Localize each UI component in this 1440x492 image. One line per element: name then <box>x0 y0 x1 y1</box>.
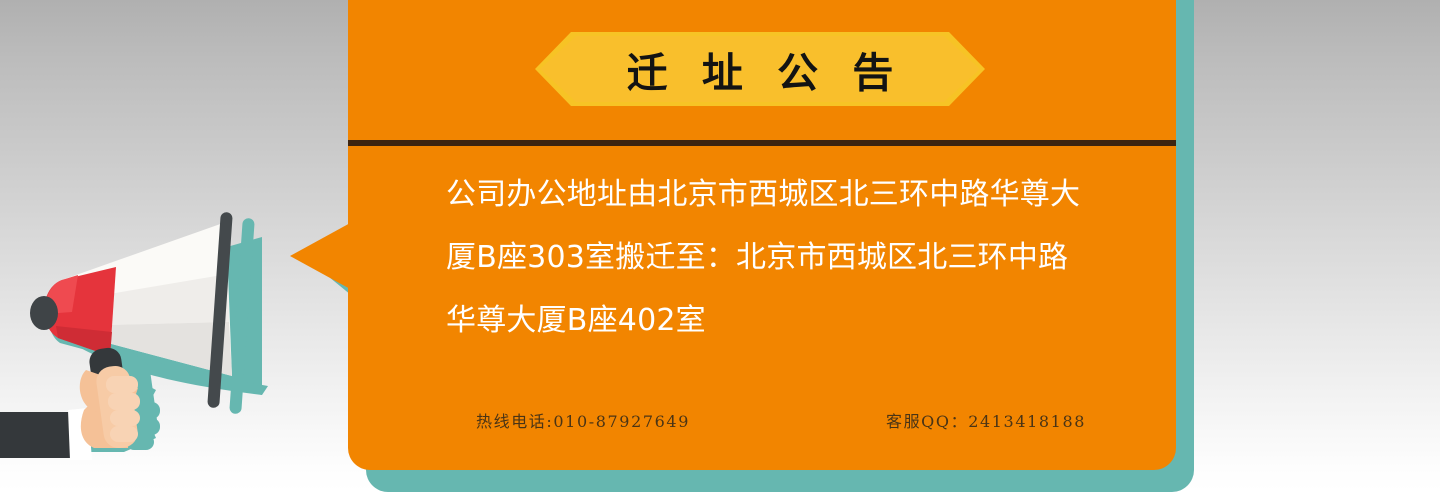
contact-footer: 热线电话:010-87927649 客服QQ：2413418188 <box>446 408 1094 432</box>
announcement-body-text: 公司办公地址由北京市西城区北三环中路华尊大厦B座303室搬迁至：北京市西城区北三… <box>446 163 1094 352</box>
speech-bubble-tail <box>290 222 352 290</box>
hand-holding-megaphone-illustration <box>0 180 340 492</box>
megaphone-knob <box>30 296 58 330</box>
page-title: 迁 址 公 告 <box>535 32 985 106</box>
customer-service-qq: 客服QQ：2413418188 <box>886 408 1086 432</box>
announcement-banner-image: 迁 址 公 告 公司办公地址由北京市西城区北三环中路华尊大厦B座303室搬迁至：… <box>0 0 1440 492</box>
hotline-phone: 热线电话:010-87927649 <box>476 408 690 432</box>
hand <box>80 364 140 450</box>
arm-sleeve <box>0 408 92 460</box>
header-divider <box>348 140 1176 146</box>
title-banner: 迁 址 公 告 <box>535 32 985 106</box>
